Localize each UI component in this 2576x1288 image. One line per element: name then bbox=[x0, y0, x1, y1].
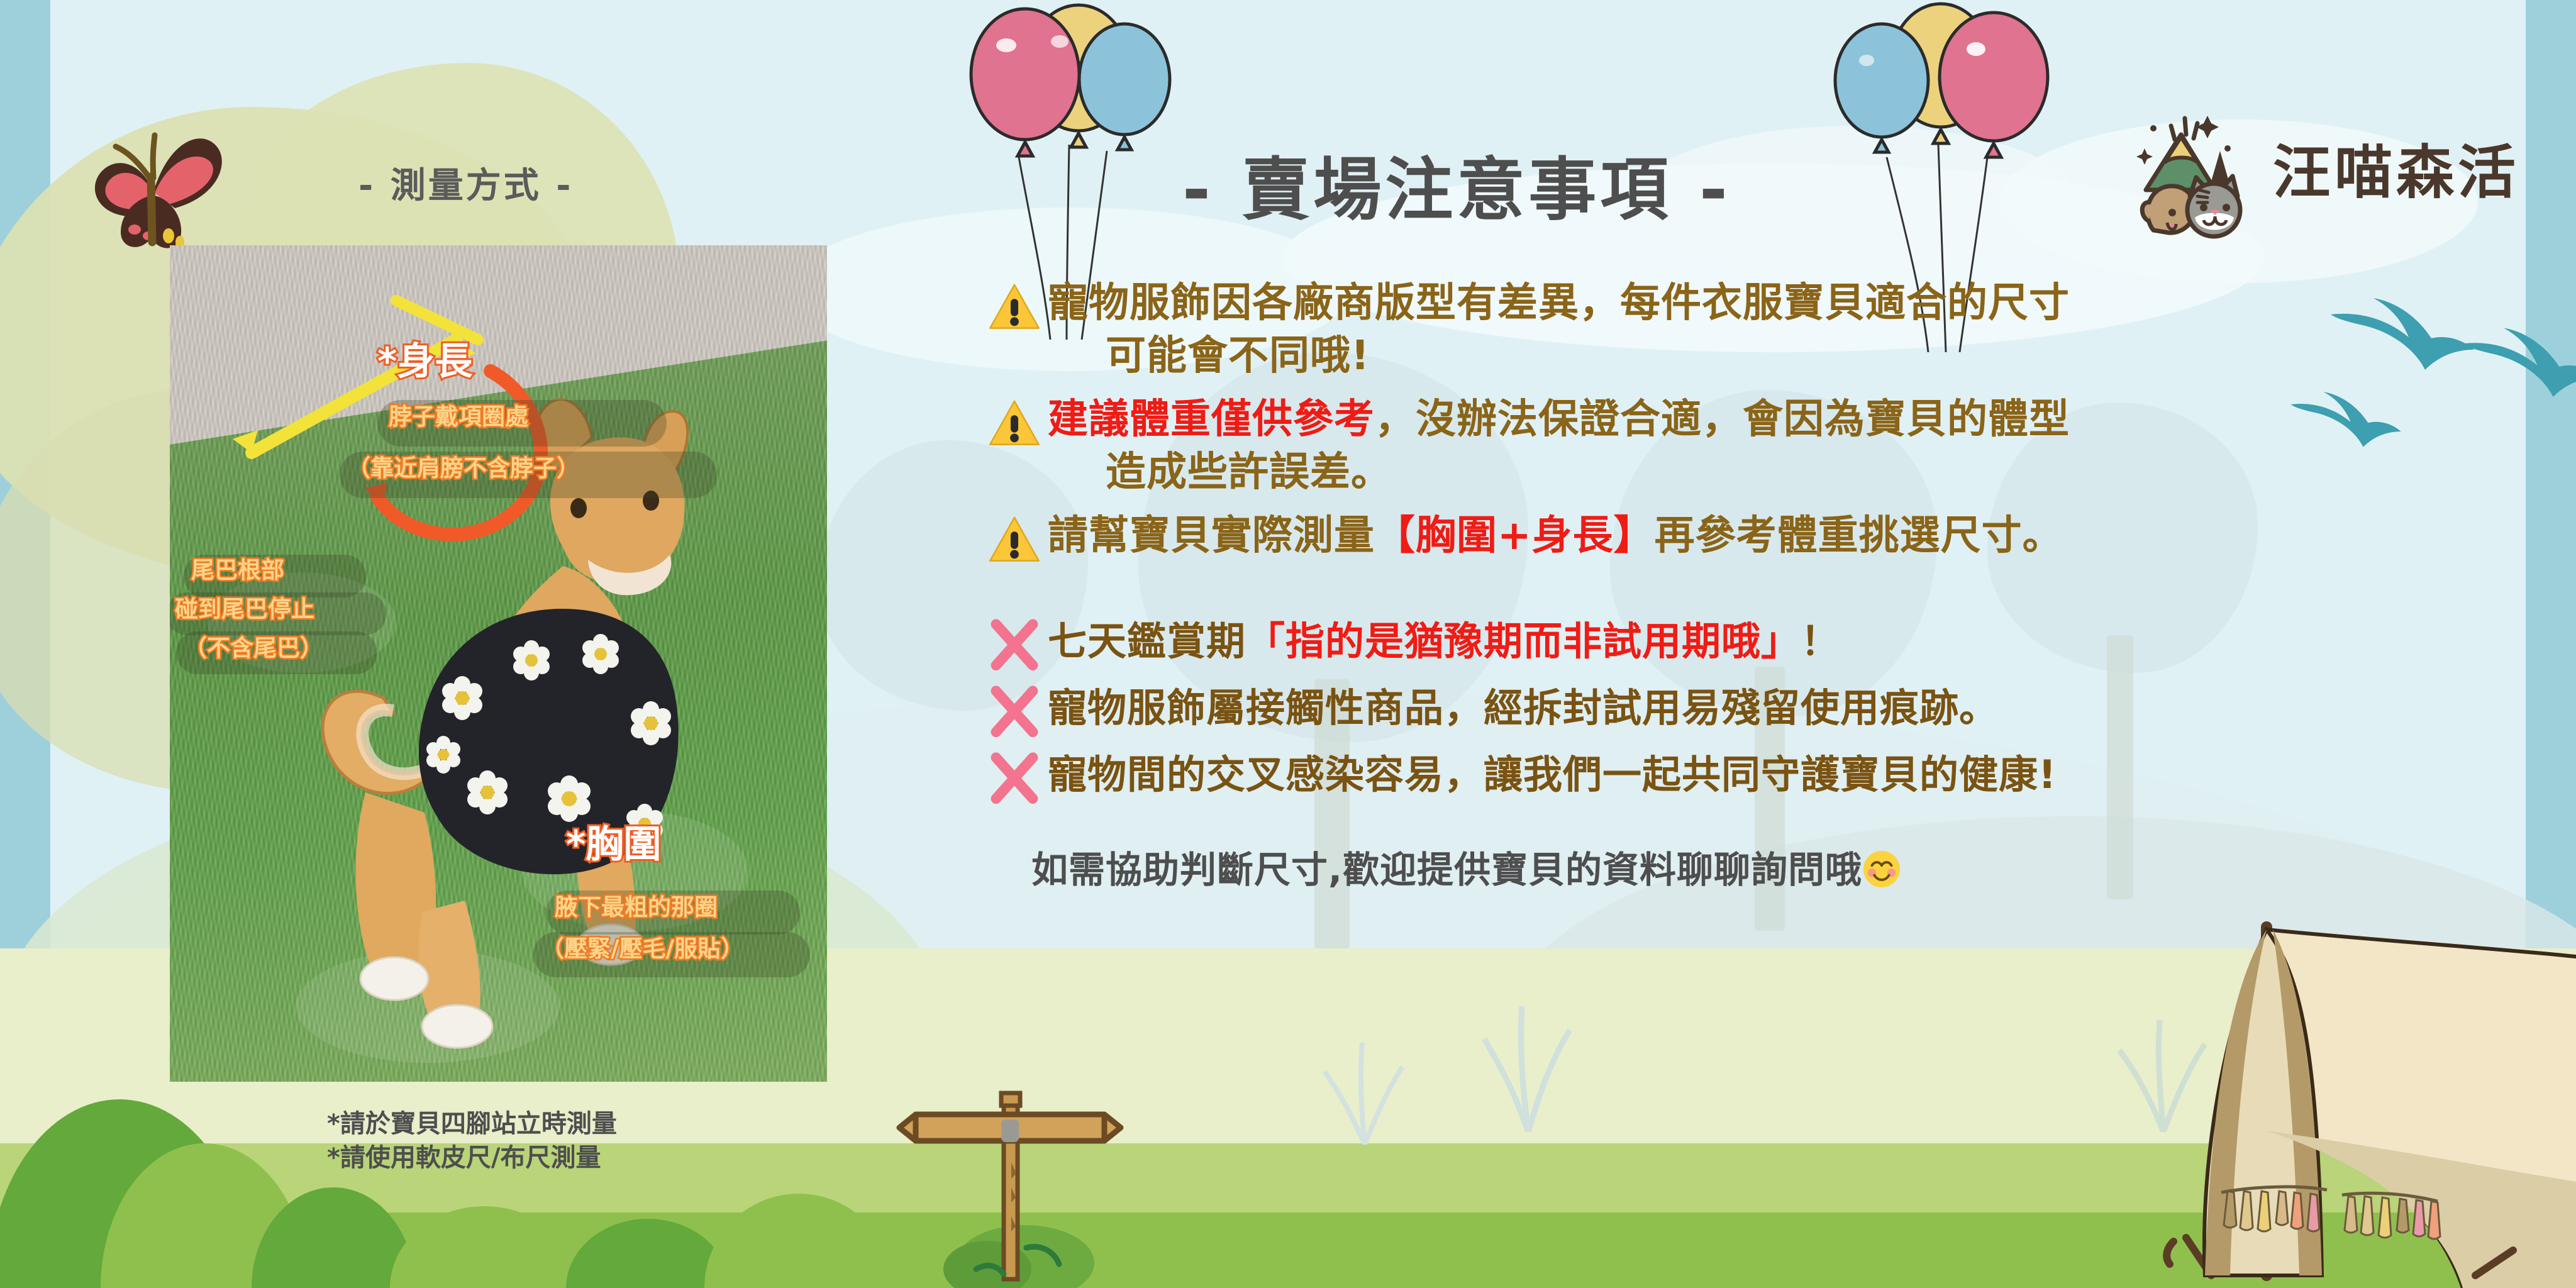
notice-warning-3-pre: 請幫寶貝實際測量 bbox=[1048, 513, 1375, 559]
label-body-length-sub2: （靠近肩膀不含脖子） bbox=[347, 455, 580, 481]
cross-mark-icon bbox=[987, 752, 1041, 806]
notice-warning-2: 建議體重僅供參考，沒辦法保證合適，會因為寶貝的體型 造成些許誤差。 bbox=[987, 393, 2547, 499]
label-body-length-title: *身長 bbox=[377, 341, 472, 383]
smiling-face-emoji-icon bbox=[1862, 850, 1901, 889]
label-chest-title: *胸圍 bbox=[566, 824, 661, 866]
notice-warning-3-red: 【胸圍+身長】 bbox=[1375, 513, 1655, 559]
reed-cluster-2 bbox=[1308, 1006, 1421, 1145]
notice-warning-1-text: 寵物服飾因各廠商版型有差異，每件衣服寶貝適合的尺寸 可能會不同哦! bbox=[1048, 277, 2070, 383]
camping-tent-icon bbox=[2111, 835, 2576, 1288]
cross-mark-icon bbox=[987, 619, 1041, 673]
notice-warning-3-post: 再參考體重挑選尺寸。 bbox=[1655, 513, 2063, 559]
footnote-1: *請於寶貝四腳站立時測量 bbox=[327, 1107, 617, 1141]
brand-logo: 汪喵森活 bbox=[2132, 101, 2522, 245]
photo-footnotes: *請於寶貝四腳站立時測量 *請使用軟皮尺/布尺測量 bbox=[327, 1107, 617, 1175]
warning-triangle-icon bbox=[987, 397, 1041, 451]
footnote-2: *請使用軟皮尺/布尺測量 bbox=[327, 1141, 617, 1175]
label-tail: 尾巴根部 bbox=[191, 557, 284, 583]
notice-cross-1-post: ！ bbox=[1801, 618, 1840, 664]
label-body-length-sub1: 脖子戴項圈處 bbox=[389, 404, 528, 430]
notice-warning-2-line2: 造成些許誤差。 bbox=[1048, 446, 2070, 499]
label-body-length: *身長 bbox=[377, 341, 472, 383]
label-tail-sub1: 碰到尾巴停止 bbox=[175, 596, 314, 622]
notices-block: 寵物服飾因各廠商版型有差異，每件衣服寶貝適合的尺寸 可能會不同哦! 建議體重僅供… bbox=[987, 277, 2547, 893]
closing-text: 如需協助判斷尺寸,歡迎提供寶貝的資料聊聊詢問哦 bbox=[1031, 848, 1862, 891]
notice-cross-3-text: 寵物間的交叉感染容易，讓我們一起共同守護寶貝的健康! bbox=[1048, 748, 2057, 801]
label-tail-title: 尾巴根部 bbox=[191, 557, 284, 583]
notice-cross-1-red: 「指的是猶豫期而非試用期哦」 bbox=[1246, 618, 1801, 664]
label-body-length-sub2-wrap: （靠近肩膀不含脖子） bbox=[347, 455, 580, 481]
wooden-signpost-icon bbox=[893, 1062, 1145, 1288]
notice-warning-3-text: 請幫寶貝實際測量【胸圍+身長】再參考體重挑選尺寸。 bbox=[1048, 509, 2063, 562]
notice-cross-2-text: 寵物服飾屬接觸性商品，經拆封試用易殘留使用痕跡。 bbox=[1048, 682, 1999, 735]
poster-canvas: 汪喵森活 - 賣場注意事項 - - 測量方式 - bbox=[0, 0, 2576, 1288]
measurement-photo: *身長 脖子戴項圈處 （靠近肩膀不含脖子） 尾巴根部 碰到尾巴停止 （不含尾巴）… bbox=[170, 245, 827, 1082]
notice-warning-2-red: 建議體重僅供參考 bbox=[1048, 396, 1375, 443]
notice-cross-1-text: 七天鑑賞期「指的是猶豫期而非試用期哦」！ bbox=[1048, 615, 1840, 668]
warning-triangle-icon bbox=[987, 280, 1041, 335]
label-tail-sub2-wrap: （不含尾巴） bbox=[184, 635, 323, 661]
dog-cat-mountain-logo-icon bbox=[2132, 107, 2264, 239]
notice-cross-2: 寵物服飾屬接觸性商品，經拆封試用易殘留使用痕跡。 bbox=[987, 682, 2547, 740]
notice-warning-1-line1: 寵物服飾因各廠商版型有差異，每件衣服寶貝適合的尺寸 bbox=[1048, 280, 2070, 326]
notice-cross-3: 寵物間的交叉感染容易，讓我們一起共同守護寶貝的健康! bbox=[987, 748, 2547, 806]
butterfly-icon bbox=[74, 116, 225, 267]
page-title: - 賣場注意事項 - bbox=[1182, 135, 1731, 233]
label-chest-sub1-wrap: 腋下最粗的那圈 bbox=[555, 894, 718, 920]
label-tail-sub2: （不含尾巴） bbox=[184, 635, 323, 661]
reed-cluster-1 bbox=[1459, 969, 1597, 1132]
notice-warning-1: 寵物服飾因各廠商版型有差異，每件衣服寶貝適合的尺寸 可能會不同哦! bbox=[987, 277, 2547, 383]
label-chest-sub1: 腋下最粗的那圈 bbox=[555, 894, 718, 920]
label-tail-sub1-wrap: 碰到尾巴停止 bbox=[175, 596, 314, 622]
label-chest: *胸圍 bbox=[566, 824, 661, 866]
notice-warning-3: 請幫寶貝實際測量【胸圍+身長】再參考體重挑選尺寸。 bbox=[987, 509, 2547, 567]
label-body-length-sub: 脖子戴項圈處 bbox=[389, 404, 528, 430]
cross-mark-icon bbox=[987, 686, 1041, 740]
label-chest-sub2: （壓緊/壓毛/服貼） bbox=[541, 936, 744, 962]
notice-warning-2-rest: ，沒辦法保證合適，會因為寶貝的體型 bbox=[1375, 396, 2070, 443]
logo-wordmark: 汪喵森活 bbox=[2273, 144, 2519, 202]
notice-warning-1-line2: 可能會不同哦! bbox=[1048, 330, 2070, 382]
closing-line: 如需協助判斷尺寸,歡迎提供寶貝的資料聊聊詢問哦 bbox=[987, 840, 2547, 893]
warning-triangle-icon bbox=[987, 513, 1041, 567]
measure-method-heading: - 測量方式 - bbox=[358, 157, 573, 208]
notice-cross-1-pre: 七天鑑賞期 bbox=[1048, 618, 1246, 664]
notice-cross-1: 七天鑑賞期「指的是猶豫期而非試用期哦」！ bbox=[987, 615, 2547, 673]
notice-warning-2-text: 建議體重僅供參考，沒辦法保證合適，會因為寶貝的體型 造成些許誤差。 bbox=[1048, 393, 2070, 499]
label-chest-sub2-wrap: （壓緊/壓毛/服貼） bbox=[541, 936, 744, 962]
